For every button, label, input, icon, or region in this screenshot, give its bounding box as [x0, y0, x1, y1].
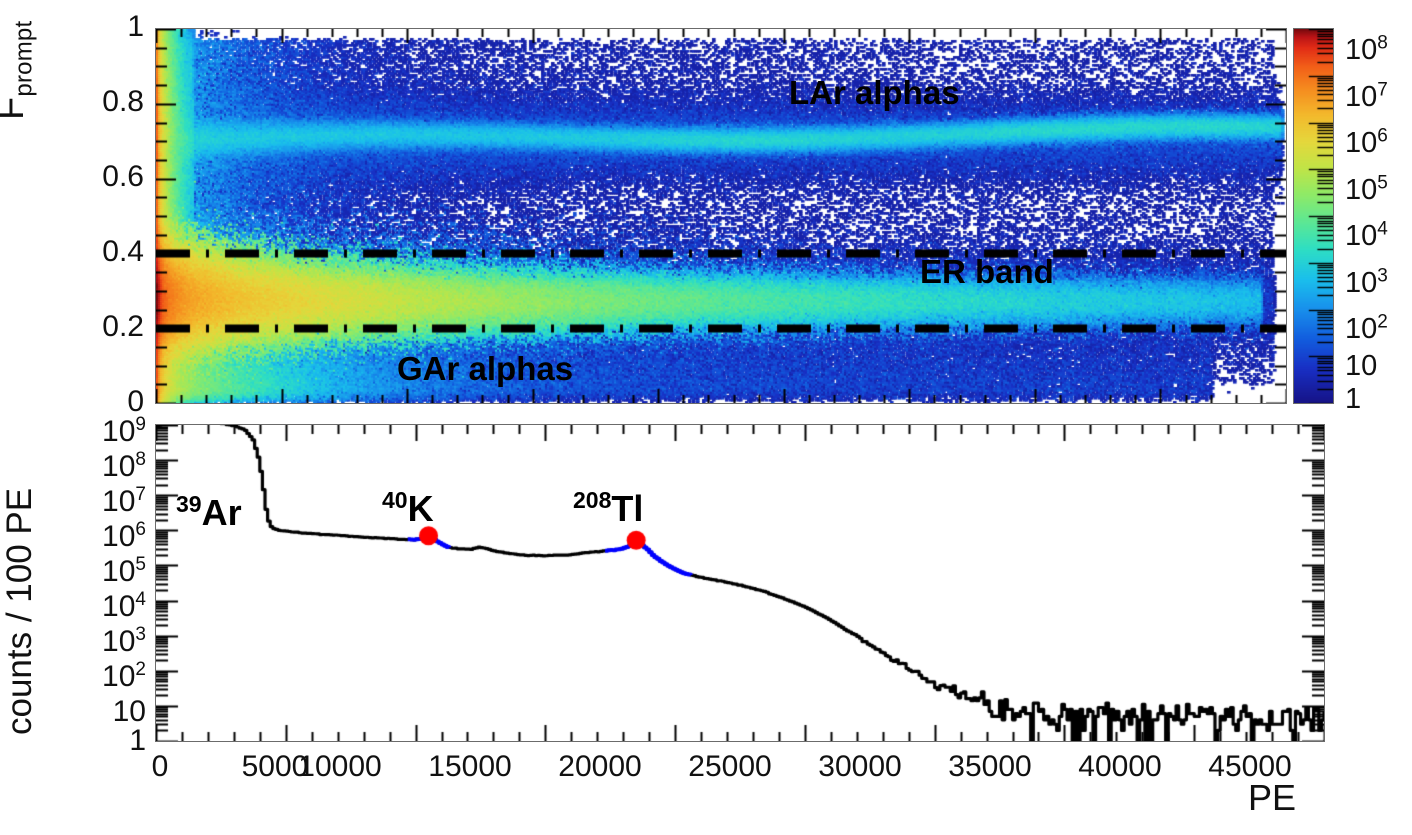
- colorbar-tick-1e7: 107: [1345, 83, 1388, 112]
- ytick-bot-1e4: 104: [36, 592, 146, 622]
- ytick-bot-1: 1: [36, 726, 146, 756]
- ytick-bot-1e8: 108: [36, 452, 146, 482]
- xtick-10000: 10000: [275, 752, 405, 782]
- yaxis-title-counts: counts / 100 PE: [2, 488, 37, 735]
- xaxis-title-pe: PE: [1248, 780, 1296, 816]
- isotope-label-tl208: 208Tl: [573, 491, 643, 527]
- colorbar-tick-1e8: 108: [1345, 36, 1388, 65]
- fprompt-main: F: [0, 97, 32, 120]
- colorbar-tick-1e5: 105: [1345, 176, 1388, 205]
- fprompt-plot-frame: [155, 28, 1287, 404]
- colorbar-tick-1: 1: [1345, 385, 1361, 414]
- ytick-bot-1e7: 107: [36, 487, 146, 517]
- xtick-15000: 15000: [405, 752, 535, 782]
- ytick-top-0.8: 0.8: [66, 87, 144, 117]
- annotation-lar-alphas: LAr alphas: [789, 76, 960, 109]
- xtick-40000: 40000: [1055, 752, 1185, 782]
- colorbar-tick-1e4: 104: [1345, 222, 1388, 251]
- fprompt-density-canvas: [156, 29, 1286, 403]
- spectrum-plot-frame: [155, 424, 1325, 742]
- colorbar-tick-1e6: 106: [1345, 129, 1388, 158]
- colorbar-tick-10: 10: [1345, 352, 1377, 381]
- xtick-20000: 20000: [535, 752, 665, 782]
- spectrum-canvas: [156, 425, 1324, 741]
- xtick-30000: 30000: [795, 752, 925, 782]
- xtick-0: 0: [140, 752, 180, 782]
- annotation-er-band: ER band: [920, 255, 1054, 288]
- xtick-35000: 35000: [925, 752, 1055, 782]
- ytick-bot-1e6: 106: [36, 522, 146, 552]
- isotope-label-k40: 40K: [382, 491, 434, 527]
- ytick-bot-1e3: 103: [36, 627, 146, 657]
- isotope-label-ar39: 39Ar: [176, 495, 242, 531]
- ytick-top-0.2: 0.2: [66, 312, 144, 342]
- ytick-bot-1e2: 102: [36, 662, 146, 692]
- ytick-top-1: 1: [66, 12, 144, 42]
- ytick-bot-1e5: 105: [36, 557, 146, 587]
- ytick-top-0.4: 0.4: [66, 237, 144, 267]
- colorbar: [1293, 28, 1334, 404]
- ytick-bot-1e9: 109: [36, 417, 146, 447]
- figure-root: 1 0.8 0.6 0.4 0.2 0 Fprompt LAr alphas E…: [0, 0, 1412, 835]
- fprompt-subscript: prompt: [11, 21, 38, 97]
- annotation-gar-alphas: GAr alphas: [397, 352, 573, 385]
- yaxis-title-fprompt: Fprompt: [0, 21, 30, 120]
- ytick-top-0: 0: [66, 387, 144, 417]
- colorbar-tick-1e2: 102: [1345, 315, 1388, 344]
- xtick-25000: 25000: [665, 752, 795, 782]
- colorbar-gradient: [1294, 29, 1333, 403]
- ytick-bot-10: 10: [36, 697, 146, 727]
- colorbar-tick-1e3: 103: [1345, 269, 1388, 298]
- ytick-top-0.6: 0.6: [66, 162, 144, 192]
